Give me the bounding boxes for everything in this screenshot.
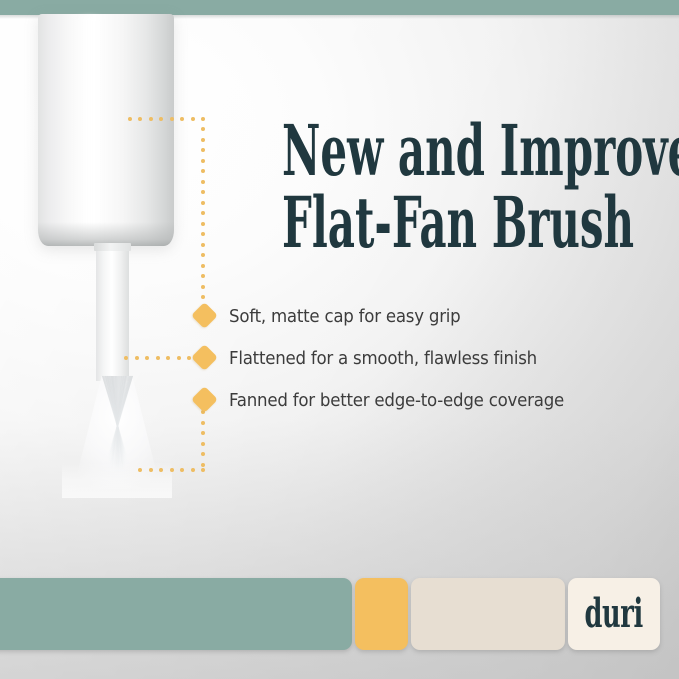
product-photo <box>0 0 300 520</box>
connector-dot <box>201 232 205 236</box>
brush-bristles <box>62 376 172 496</box>
footer-color-bar: duri <box>0 578 679 650</box>
connector-dot <box>201 431 205 435</box>
feature-text-1: Soft, matte cap for easy grip <box>229 307 460 327</box>
connector-dot <box>180 468 184 472</box>
connector-dot <box>201 138 205 142</box>
connector-dot <box>201 222 205 226</box>
connector-dot <box>201 117 205 121</box>
connector-dot <box>187 356 191 360</box>
connector-dot <box>201 127 205 131</box>
connector-dot <box>135 356 139 360</box>
connector-dot <box>191 117 195 121</box>
list-item: Fanned for better edge-to-edge coverage <box>229 380 659 422</box>
connector-dot <box>145 356 149 360</box>
connector-dot <box>159 117 163 121</box>
cap-highlight <box>74 16 104 244</box>
connector-dot <box>201 274 205 278</box>
connector-dot <box>191 468 195 472</box>
connector-dot <box>201 295 205 299</box>
footer-segment-beige <box>411 578 565 650</box>
footer-segment-teal <box>0 578 352 650</box>
brand-logo-text: duri <box>585 594 643 634</box>
brush-cap-icon <box>38 14 174 246</box>
connector-dot <box>166 356 170 360</box>
connector-dot <box>201 442 205 446</box>
brand-logo-panel: duri <box>568 578 660 650</box>
connector-dot <box>201 180 205 184</box>
feature-text-2: Flattened for a smooth, flawless finish <box>229 349 537 369</box>
connector-dot <box>156 356 160 360</box>
connector-dot <box>149 117 153 121</box>
feature-text-3: Fanned for better edge-to-edge coverage <box>229 391 564 411</box>
connector-dot <box>180 117 184 121</box>
connector-dot <box>201 169 205 173</box>
bristle-tip-fade <box>62 462 172 498</box>
connector-dot <box>201 463 205 467</box>
brush-stem <box>96 243 129 381</box>
connector-dot <box>201 285 205 289</box>
connector-dot <box>201 253 205 257</box>
list-item: Flattened for a smooth, flawless finish <box>229 338 659 380</box>
connector-dot <box>201 190 205 194</box>
connector-dot <box>138 468 142 472</box>
brush-stem-collar <box>94 243 131 251</box>
connector-dot <box>201 468 205 472</box>
connector-dot <box>149 468 153 472</box>
connector-dot <box>124 356 128 360</box>
list-item: Soft, matte cap for easy grip <box>229 296 659 338</box>
promo-image: New and Improved Flat-Fan Brush Soft, ma… <box>0 0 679 679</box>
connector-dot <box>128 117 132 121</box>
connector-dot <box>201 264 205 268</box>
connector-dot <box>170 468 174 472</box>
connector-dot <box>201 201 205 205</box>
connector-dot <box>138 117 142 121</box>
connector-dot <box>201 211 205 215</box>
feature-list: Soft, matte cap for easy grip Flattened … <box>229 296 659 422</box>
connector-dot <box>201 159 205 163</box>
footer-segment-amber <box>355 578 408 650</box>
connector-dot <box>159 468 163 472</box>
connector-dot <box>170 117 174 121</box>
connector-dot <box>201 243 205 247</box>
page-title: New and Improved Flat-Fan Brush <box>282 115 672 259</box>
headline-line-1: New and Improved <box>282 115 516 187</box>
connector-dot <box>177 356 181 360</box>
connector-dot <box>201 421 205 425</box>
headline-line-2: Flat-Fan Brush <box>282 187 516 259</box>
connector-dot <box>201 148 205 152</box>
connector-dot <box>201 452 205 456</box>
